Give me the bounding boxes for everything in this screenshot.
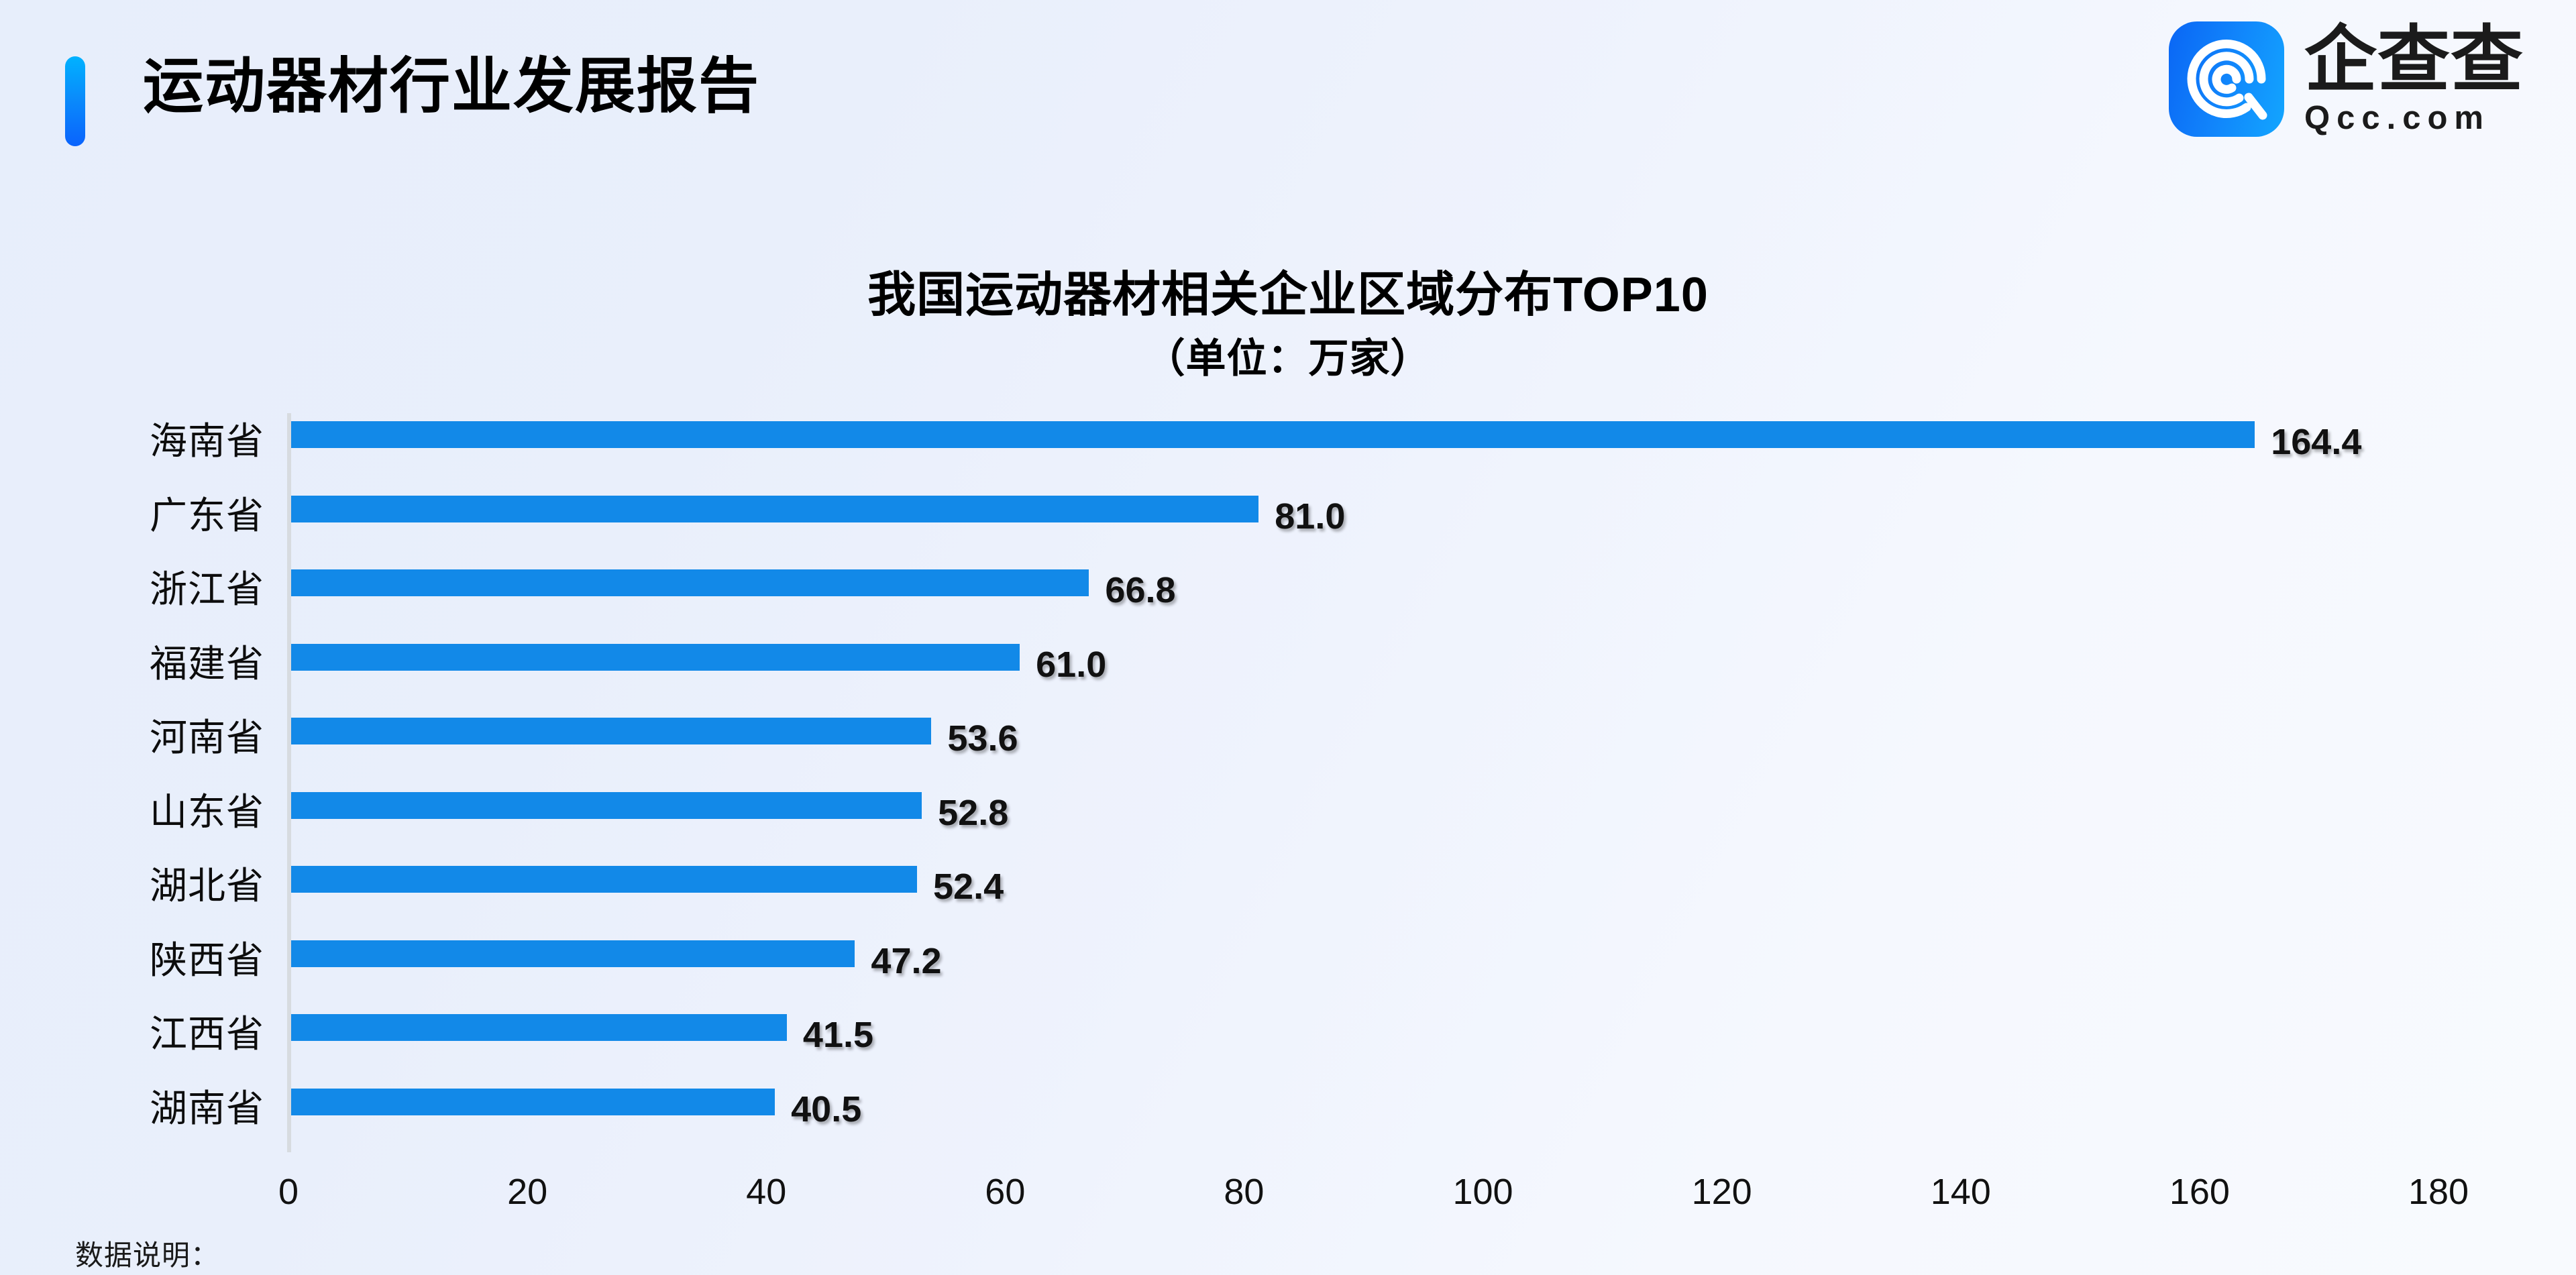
x-tick-60: 60 [985,1174,1025,1210]
x-tick-80: 80 [1224,1174,1264,1210]
x-tick-40: 40 [746,1174,786,1210]
bar-6 [291,792,922,819]
y-axis-line [287,413,291,1152]
bar-value-label: 40.5 [791,1091,861,1127]
footnote: 数据说明： [75,1233,219,1274]
category-label-2: 广东省 [150,497,264,535]
bar-5 [291,718,931,744]
x-tick-0: 0 [278,1174,299,1210]
bar-value-label: 81.0 [1275,498,1345,535]
x-tick-160: 160 [2169,1174,2230,1210]
bar-value-label: 53.6 [947,720,1018,757]
bar-8 [291,940,855,967]
x-tick-20: 20 [507,1174,547,1210]
bar-4 [291,644,1020,671]
bar-value-label: 66.8 [1105,572,1175,608]
bar-2 [291,496,1258,522]
bar-9 [291,1014,787,1041]
bar-value-label: 52.4 [933,869,1004,905]
category-label-7: 湖北省 [150,867,264,905]
category-label-5: 河南省 [150,719,264,757]
bar-1 [291,421,2255,448]
bar-10 [291,1089,775,1115]
category-label-10: 湖南省 [150,1090,264,1127]
category-label-4: 福建省 [150,645,264,683]
category-label-6: 山东省 [150,793,264,831]
x-tick-180: 180 [2408,1174,2469,1210]
x-tick-140: 140 [1931,1174,1991,1210]
bar-value-label: 164.4 [2271,424,2361,460]
category-label-8: 陕西省 [150,942,264,979]
category-label-3: 浙江省 [150,571,264,608]
chart-page: 运动器材行业发展报告 企查查 Qcc.com 我国运动器材相关企业区域分布TOP… [0,0,2576,1275]
bar-value-label: 47.2 [871,943,941,979]
category-label-1: 海南省 [150,423,264,460]
bar-value-label: 61.0 [1036,647,1106,683]
bar-value-label: 41.5 [803,1017,873,1053]
x-tick-100: 100 [1452,1174,1513,1210]
category-label-9: 江西省 [150,1015,264,1053]
bar-chart-plot: 164.481.066.861.053.652.852.447.241.540.… [0,0,2576,1275]
x-tick-120: 120 [1692,1174,1752,1210]
bar-value-label: 52.8 [938,795,1008,831]
bar-3 [291,569,1089,596]
bar-7 [291,866,917,893]
